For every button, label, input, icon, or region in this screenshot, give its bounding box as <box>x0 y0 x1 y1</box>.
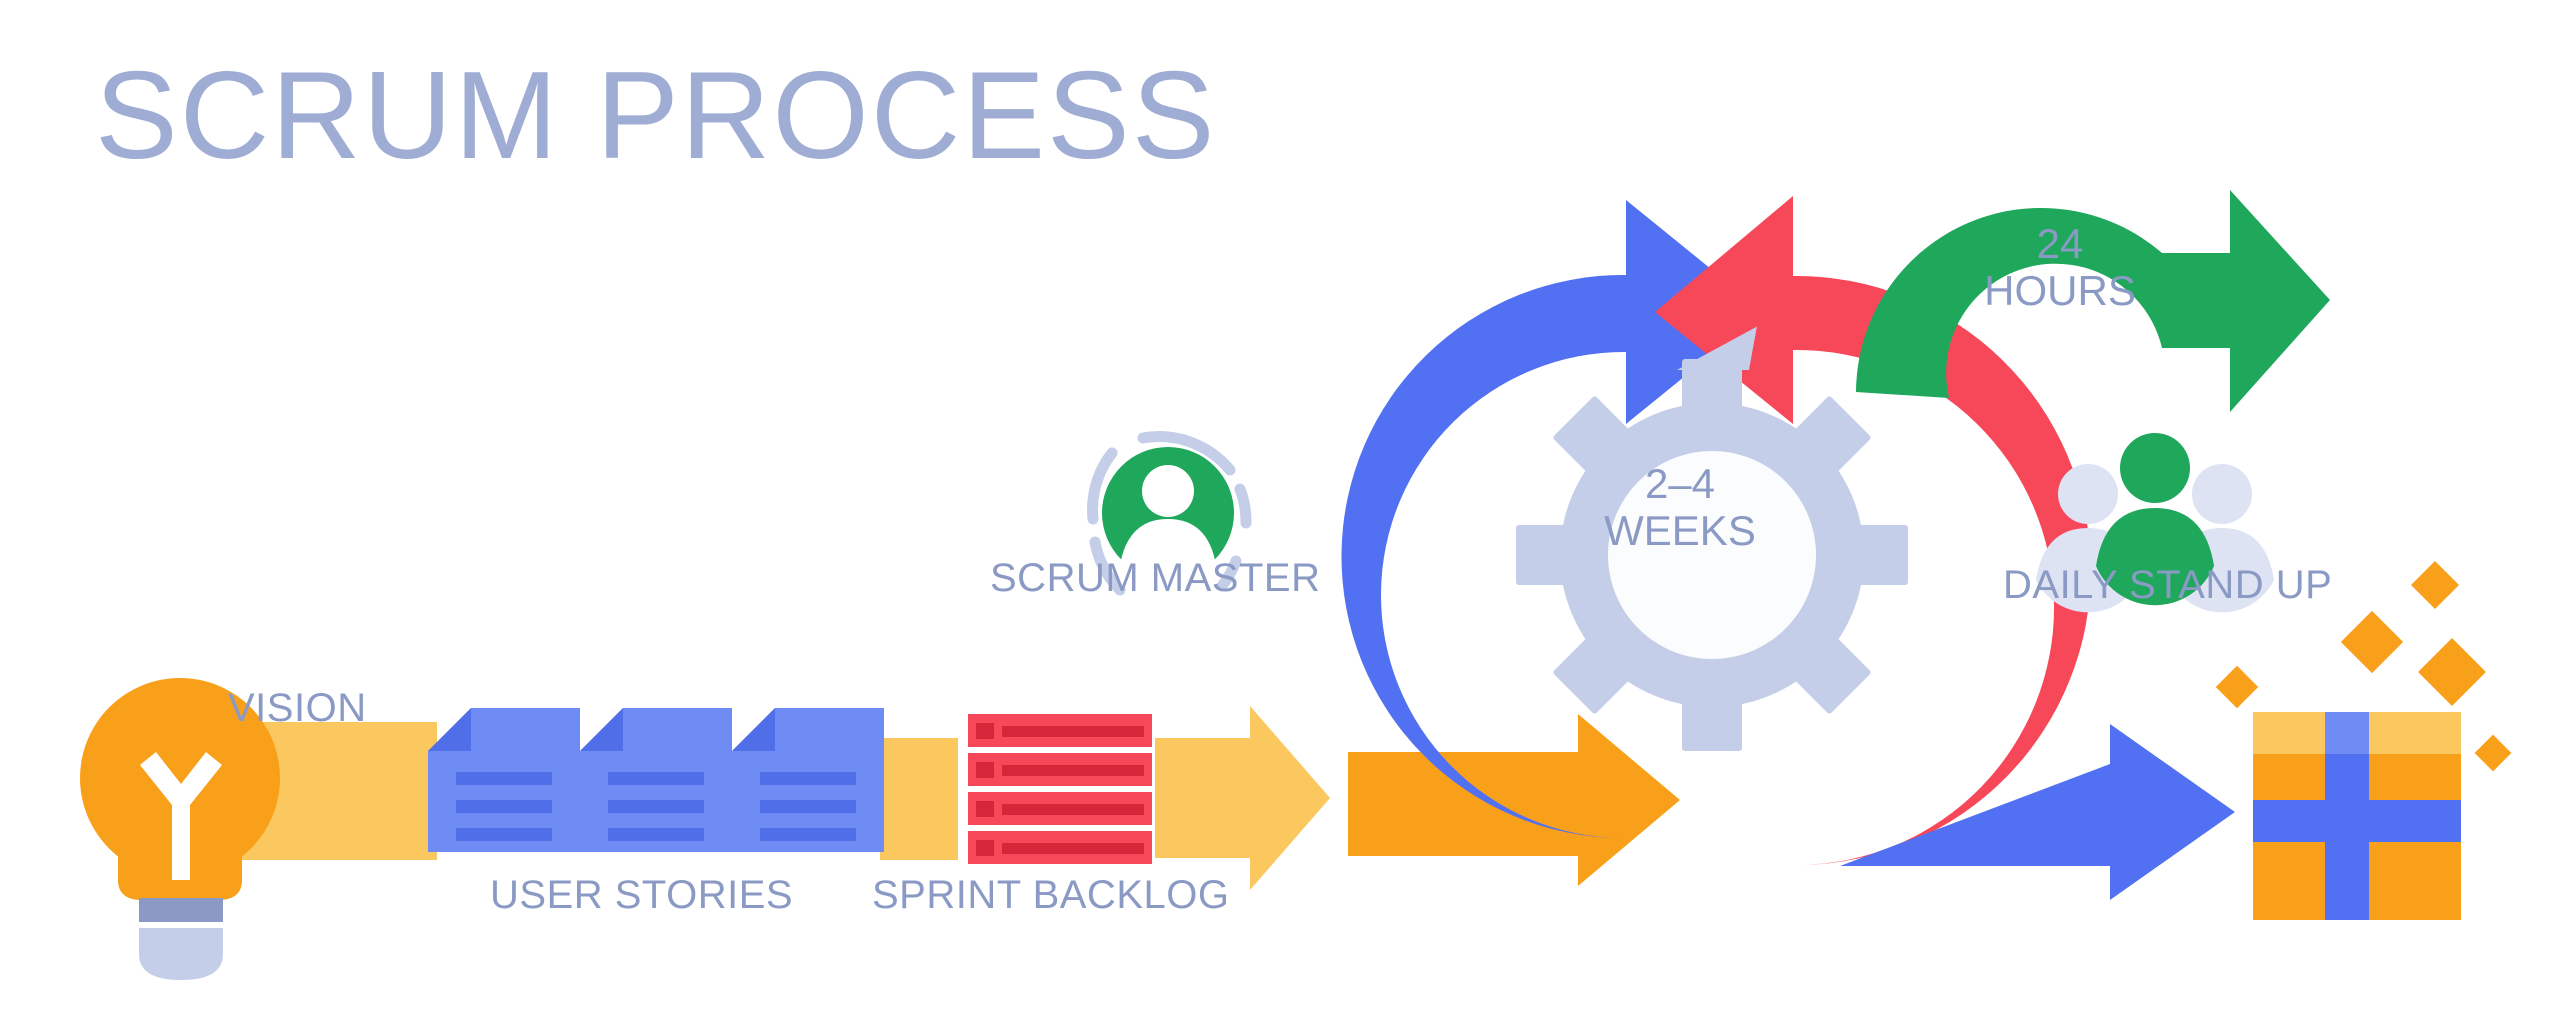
label-scrum-master: SCRUM MASTER <box>990 558 1320 598</box>
backlog-row <box>968 753 1152 786</box>
label-sprint-duration: 2–4 WEEKS <box>1560 460 1800 554</box>
document-icon <box>428 708 580 852</box>
scrum-process-illustration <box>0 0 2560 1024</box>
arrow-right-icon <box>1348 714 1680 886</box>
backlog-row <box>968 792 1152 825</box>
label-standup-duration: 24 HOURS <box>1960 220 2160 314</box>
document-icon <box>580 708 732 852</box>
infographic-canvas: SCRUM PROCESS <box>0 0 2560 1024</box>
arrow-right-icon <box>1155 706 1330 890</box>
document-stack-icon <box>428 708 884 852</box>
label-sprint-backlog: SPRINT BACKLOG <box>872 875 1229 915</box>
arrow-right-icon <box>1840 724 2235 900</box>
stories-connector-bar <box>880 738 958 860</box>
backlog-row <box>968 831 1152 864</box>
document-icon <box>732 708 884 852</box>
gift-box-icon <box>2253 712 2461 920</box>
label-daily-stand-up: DAILY STAND UP <box>2003 565 2332 605</box>
backlog-rows-icon <box>968 714 1152 864</box>
label-user-stories: USER STORIES <box>490 875 793 915</box>
backlog-row <box>968 714 1152 747</box>
label-vision: VISION <box>228 688 367 728</box>
